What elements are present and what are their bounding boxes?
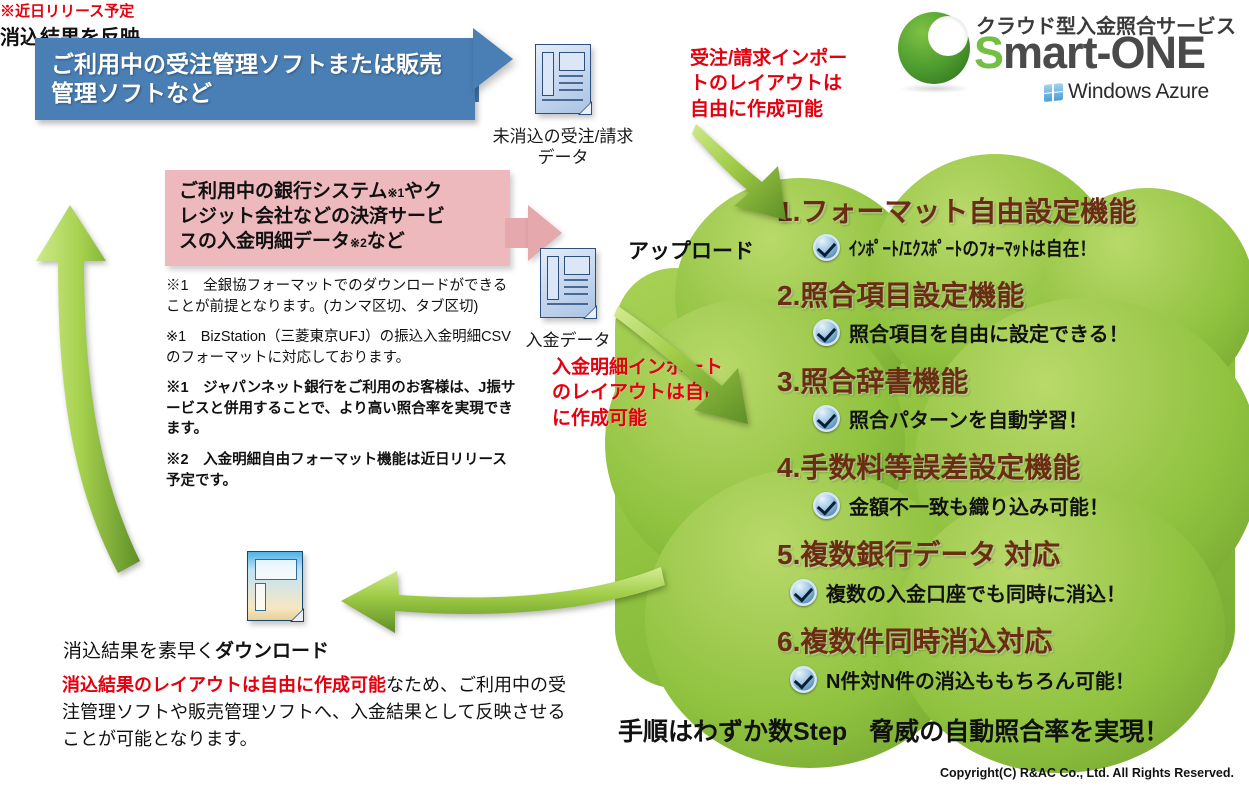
windows-azure-badge: Windows Azure <box>1044 80 1209 104</box>
feature-sub-text: 照合項目を自由に設定できる！ <box>849 318 1129 347</box>
bottom-paragraph-highlight: 消込結果のレイアウトは自由に作成可能 <box>62 675 386 695</box>
feature-sub-2: 照合項目を自由に設定できる！ <box>813 318 1129 347</box>
feature-title-3: 3.照合辞書機能 <box>777 360 968 400</box>
footnote-3: ※1 ジャパンネット銀行をご利用のお客様は、J振サービスと併用することで、より高… <box>166 378 518 440</box>
bank-line2: レジット会社などの決済サービ <box>179 206 445 227</box>
download-result-line: 消込結果を素早くダウンロード <box>63 636 329 663</box>
orders-layout-callout: 受注/請求インポートのレイアウトは自由に作成可能 <box>690 46 860 122</box>
doc-fold-inner <box>292 610 303 621</box>
doc-sidebar <box>542 52 554 96</box>
doc-sidebar <box>255 583 266 611</box>
slide-canvas: 1.フォーマット自由設定機能 ｲﾝﾎﾟｰﾄ/ｴｸｽﾎﾟｰﾄのﾌｫｰﾏｯﾄは自在！… <box>0 0 1249 787</box>
doc-line <box>564 279 588 281</box>
brand-logo: クラウド型入金照合サービス Smart-ONE Windows Azure <box>898 4 1243 112</box>
doc-block <box>255 559 297 580</box>
bank-mark1: ※1 <box>387 186 404 200</box>
doc-line <box>547 303 588 305</box>
feature-title-2: 2.照合項目設定機能 <box>777 274 1024 314</box>
payments-doc-label: 入金データ <box>508 330 628 351</box>
doc-fold-inner <box>580 103 591 114</box>
check-badge-icon <box>813 234 840 261</box>
green-arrow-payments-to-cloud <box>614 300 774 430</box>
logo-shadow <box>900 84 970 93</box>
orders-doc-label-line2: データ <box>470 147 656 168</box>
blue-arrow-head <box>473 28 513 90</box>
check-badge-icon <box>813 405 840 432</box>
azure-label: Windows Azure <box>1068 80 1209 104</box>
bank-line1: ご利用中の銀行システム <box>179 181 387 202</box>
source-system-text: ご利用中の受注管理ソフトまたは販売管理ソフトなど <box>51 50 463 109</box>
logo-mart-o: mart-O <box>1003 27 1145 78</box>
feature-sub-6: N件対N件の消込ももちろん可能！ <box>790 665 1135 694</box>
green-arrow-results-back <box>335 545 665 645</box>
feature-title-4: 4.手数料等誤差設定機能 <box>777 446 1080 486</box>
green-arrow-into-cloud <box>690 120 820 230</box>
green-arrow-reflect-up <box>22 175 152 595</box>
feature-title-5: 5.複数銀行データ 対応 <box>777 533 1060 573</box>
tagline-part-a: 手順はわずか数Step <box>618 718 847 746</box>
tagline-part-b: 脅威の自動照合率を実現！ <box>869 718 1169 746</box>
footnote-2: ※1 BizStation（三菱東京UFJ）の振込入金明細CSVのフォーマットに… <box>166 327 518 368</box>
footnote-4: ※2 入金明細自由フォーマット機能は近日リリース予定です。 <box>166 450 518 491</box>
bottom-paragraph: 消込結果のレイアウトは自由に作成可能なため、ご利用中の受注管理ソフトや販売管理ソ… <box>62 672 578 753</box>
download-document-icon <box>247 551 303 621</box>
feature-sub-text: 照合パターンを自動学習！ <box>849 404 1088 433</box>
source-system-box: ご利用中の受注管理ソフトまたは販売管理ソフトなど <box>35 38 475 120</box>
feature-title-6: 6.複数件同時消込対応 <box>777 620 1052 660</box>
logo-wordmark: Smart-ONE <box>974 30 1205 75</box>
download-line-plain: 消込結果を素早く <box>63 641 215 662</box>
orders-doc-label-line1: 未消込の受注/請求 <box>470 126 656 147</box>
feature-sub-text: 金額不一致も織り込み可能！ <box>849 491 1109 520</box>
feature-sub-text: ｲﾝﾎﾟｰﾄ/ｴｸｽﾎﾟｰﾄのﾌｫｰﾏｯﾄは自在！ <box>849 234 1096 261</box>
upload-label: アップロード <box>628 235 754 265</box>
check-badge-icon <box>790 666 817 693</box>
logo-s: S <box>974 27 1003 78</box>
orders-document-icon <box>535 44 591 114</box>
doc-line <box>564 286 588 288</box>
logo-ne: NE <box>1145 27 1206 78</box>
windows-flag-icon <box>1044 83 1063 102</box>
doc-line <box>564 293 588 295</box>
feature-sub-text: 複数の入金口座でも同時に消込！ <box>826 578 1126 607</box>
doc-sidebar <box>547 256 559 300</box>
doc-line <box>559 82 583 84</box>
check-badge-icon <box>813 319 840 346</box>
footnote-1: ※1 全銀協フォーマットでのダウンロードができることが前提となります。(カンマ区… <box>166 276 518 317</box>
bank-line1b: やク <box>404 181 442 202</box>
doc-fold-inner <box>585 307 596 318</box>
bank-line3b: など <box>367 231 405 252</box>
feature-sub-4: 金額不一致も織り込み可能！ <box>813 491 1109 520</box>
feature-sub-5: 複数の入金口座でも同時に消込！ <box>790 578 1126 607</box>
doc-block <box>559 52 585 71</box>
feature-sub-text: N件対N件の消込ももちろん可能！ <box>826 665 1135 694</box>
download-line-bold: ダウンロード <box>215 641 329 662</box>
check-badge-icon <box>790 579 817 606</box>
check-badge-icon <box>813 492 840 519</box>
payments-document-icon <box>540 248 596 318</box>
feature-sub-3: 照合パターンを自動学習！ <box>813 404 1088 433</box>
footnotes: ※1 全銀協フォーマットでのダウンロードができることが前提となります。(カンマ区… <box>166 276 518 501</box>
orders-doc-label: 未消込の受注/請求 データ <box>470 126 656 169</box>
bank-system-text: ご利用中の銀行システム※1やクレジット会社などの決済サービスの入金明細データ※2… <box>179 179 504 254</box>
doc-line <box>542 99 583 101</box>
doc-line <box>559 75 583 77</box>
feature-sub-1: ｲﾝﾎﾟｰﾄ/ｴｸｽﾎﾟｰﾄのﾌｫｰﾏｯﾄは自在！ <box>813 234 1130 261</box>
tagline: 手順はわずか数Step脅威の自動照合率を実現！ <box>618 712 1169 748</box>
doc-block <box>564 256 590 275</box>
feature-title-1: 1.フォーマット自由設定機能 <box>777 190 1136 230</box>
smartone-orb-icon <box>898 12 970 84</box>
copyright: Copyright(C) R&AC Co., Ltd. All Rights R… <box>940 766 1234 780</box>
bank-line3: スの入金明細データ <box>179 231 350 252</box>
bank-system-box: ご利用中の銀行システム※1やクレジット会社などの決済サービスの入金明細データ※2… <box>165 170 510 266</box>
bank-mark2: ※2 <box>350 236 367 250</box>
doc-line <box>559 89 583 91</box>
